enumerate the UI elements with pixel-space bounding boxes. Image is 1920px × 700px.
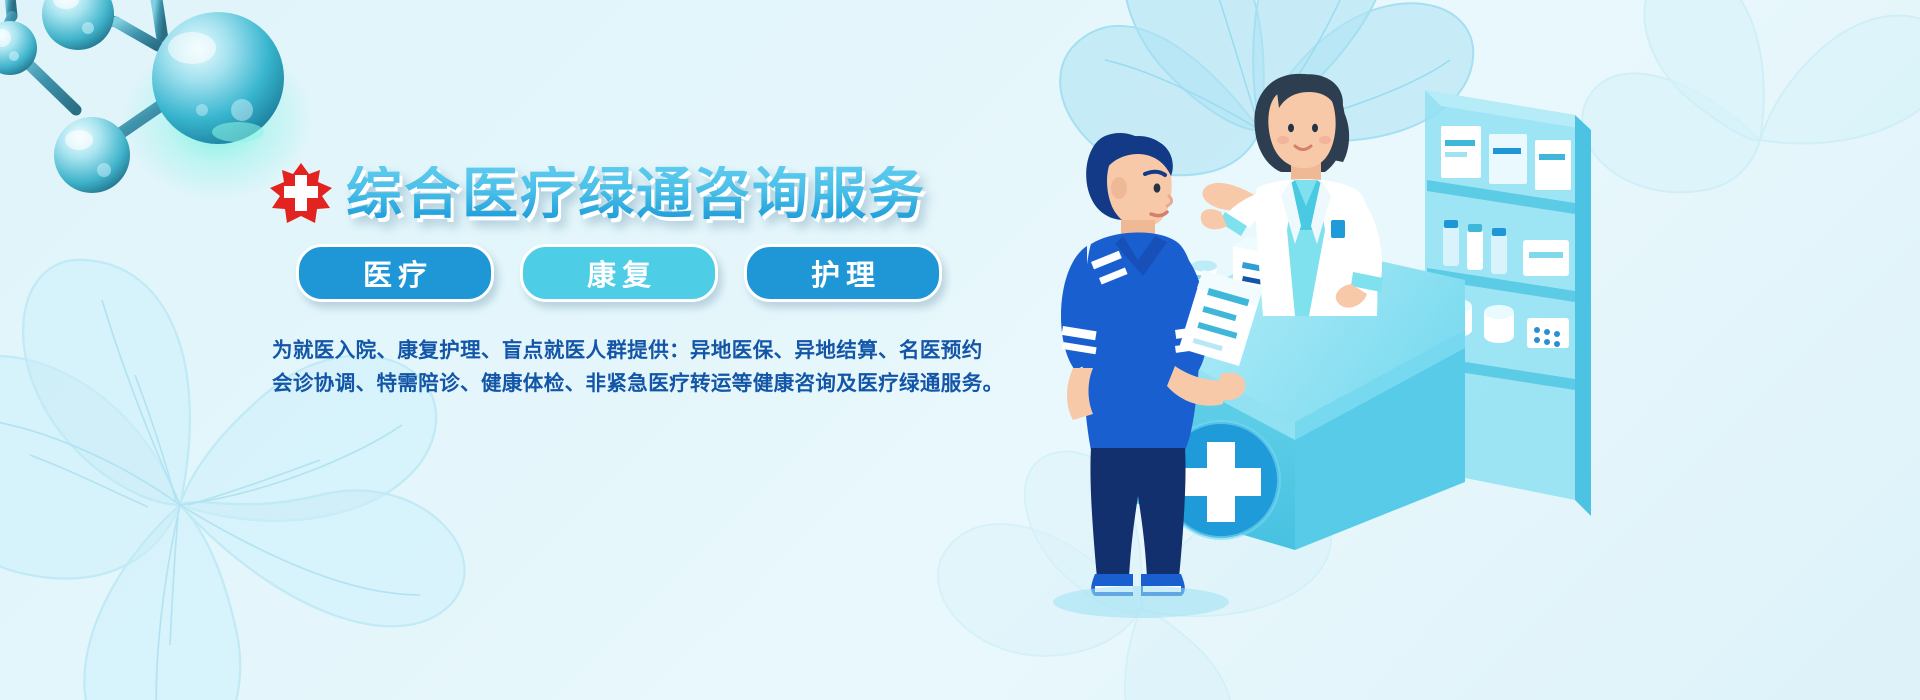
page-title: 综合医疗绿通咨询服务 (346, 166, 926, 222)
red-medical-cross-icon (268, 161, 334, 227)
pill-medical[interactable]: 医疗 (296, 244, 494, 302)
category-pill-row: 医疗 康复 护理 (296, 244, 1008, 302)
medical-service-banner: 综合医疗绿通咨询服务 医疗 康复 护理 为就医入院、康复护理、盲点就医人群提供：… (0, 0, 1920, 700)
description-block: 为就医入院、康复护理、盲点就医人群提供：异地医保、异地结算、名医预约 会诊协调、… (272, 334, 1008, 400)
title-row: 综合医疗绿通咨询服务 (268, 158, 1008, 230)
banner-content: 综合医疗绿通咨询服务 医疗 康复 护理 为就医入院、康复护理、盲点就医人群提供：… (268, 158, 1008, 400)
description-line-1: 为就医入院、康复护理、盲点就医人群提供：异地医保、异地结算、名医预约 (272, 334, 1008, 367)
pill-medical-label: 医疗 (357, 252, 433, 294)
description-line-2: 会诊协调、特需陪诊、健康体检、非紧急医疗转运等健康咨询及医疗绿通服务。 (272, 367, 1008, 400)
molecule-graphic (0, 0, 310, 230)
pill-rehabilitation-label: 康复 (581, 252, 657, 294)
pill-nursing-label: 护理 (805, 252, 881, 294)
pill-rehabilitation[interactable]: 康复 (520, 244, 718, 302)
pharmacy-counter-scene (995, 30, 1635, 650)
pill-nursing[interactable]: 护理 (744, 244, 942, 302)
